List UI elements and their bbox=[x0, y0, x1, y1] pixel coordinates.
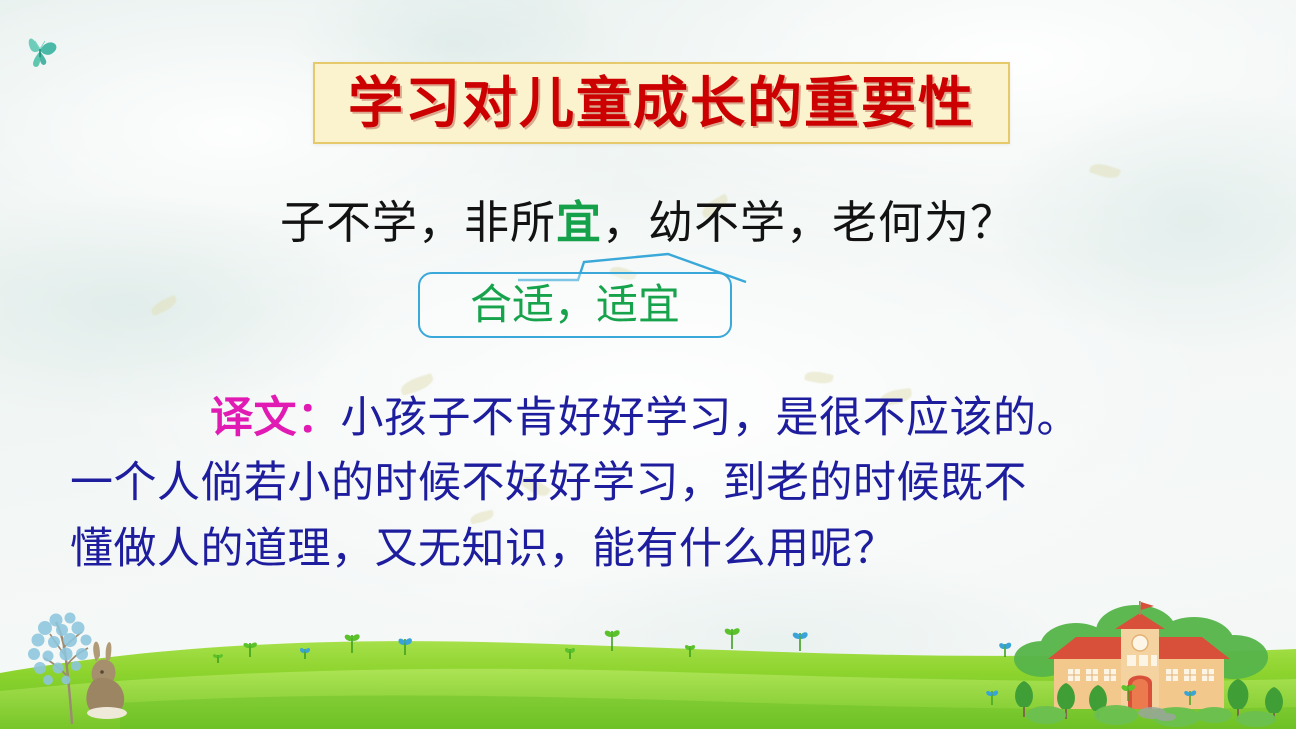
page-title: 学习对儿童成长的重要性 bbox=[348, 76, 975, 131]
verse-part-after: ，幼不学，老何为？ bbox=[602, 196, 1016, 249]
school-scenery bbox=[976, 601, 1296, 729]
school-building-icon bbox=[1048, 601, 1230, 709]
translation-line-2: 一个人倘若小的时候不好好学习，到老的时候既不 bbox=[70, 451, 1236, 516]
verse-line: 子不学，非所宜，幼不学，老何为？ bbox=[0, 186, 1296, 251]
translation-line-1: 译文：小孩子不肯好好学习，是很不应该的。 bbox=[70, 386, 1236, 451]
translation-line-1-text: 小孩子不肯好好学习，是很不应该的。 bbox=[341, 393, 1081, 443]
dotted-tree-icon bbox=[28, 613, 92, 725]
translation-line-3: 懂做人的道理，又无知识，能有什么用呢？ bbox=[70, 517, 1236, 582]
title-box: 学习对儿童成长的重要性 bbox=[313, 62, 1010, 144]
verse-highlight-char: 宜 bbox=[556, 196, 602, 249]
translation-label: 译文： bbox=[210, 393, 341, 443]
left-scenery bbox=[10, 604, 220, 729]
verse-part-before: 子不学，非所 bbox=[280, 196, 556, 249]
butterfly-icon bbox=[18, 26, 64, 70]
slide-canvas: 学习对儿童成长的重要性 子不学，非所宜，幼不学，老何为？ 合适，适宜 译文：小孩… bbox=[0, 0, 1296, 729]
translation-block: 译文：小孩子不肯好好学习，是很不应该的。 一个人倘若小的时候不好好学习，到老的时… bbox=[70, 386, 1236, 582]
callout-text: 合适，适宜 bbox=[470, 284, 680, 326]
callout-annotation: 合适，适宜 bbox=[418, 246, 748, 344]
rabbit-icon bbox=[86, 642, 127, 719]
callout-box: 合适，适宜 bbox=[418, 272, 732, 338]
